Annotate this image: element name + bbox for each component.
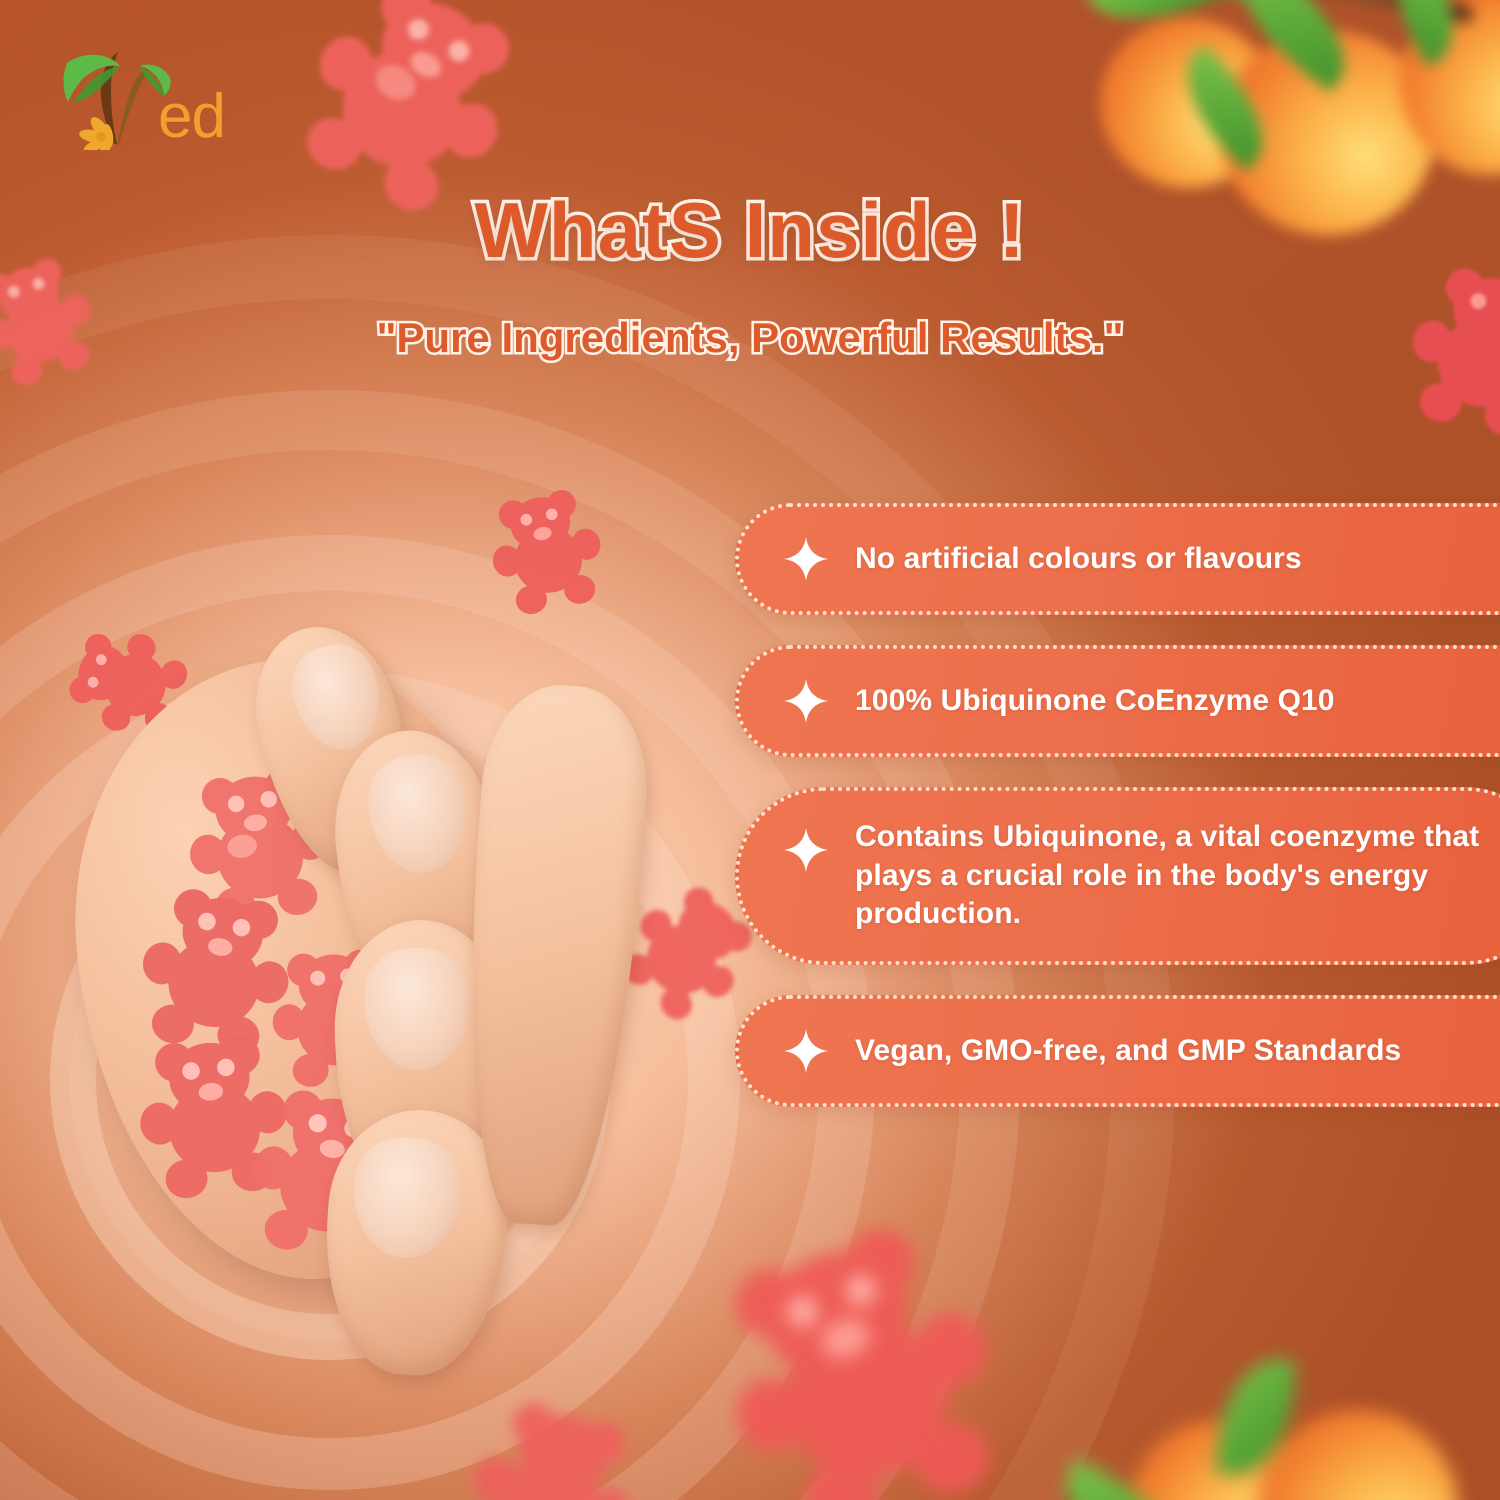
feature-card[interactable]: Vegan, GMO-free, and GMP Standards	[735, 995, 1500, 1107]
sparkle-star-icon	[783, 1028, 829, 1074]
promo-banner: ed WhatS Inside ! "Pure Ingredients, Pow…	[0, 0, 1500, 1500]
feature-card[interactable]: No artificial colours or flavours	[735, 503, 1500, 615]
peach-branch-bottom-right	[1030, 1310, 1460, 1500]
page-title: WhatS Inside !	[0, 190, 1500, 272]
page-subtitle: "Pure Ingredients, Powerful Results."	[0, 314, 1500, 362]
logo-wordmark: ed	[158, 86, 225, 148]
feature-card-label: No artificial colours or flavours	[855, 540, 1302, 578]
feature-card-label: 100% Ubiquinone CoEnzyme Q10	[855, 682, 1335, 720]
sparkle-star-icon	[783, 678, 829, 724]
feature-card-label: Vegan, GMO-free, and GMP Standards	[855, 1032, 1401, 1070]
sparkle-star-icon	[783, 536, 829, 582]
sparkle-star-icon	[783, 827, 829, 873]
heading-block: WhatS Inside ! "Pure Ingredients, Powerf…	[0, 190, 1500, 362]
feature-list: No artificial colours or flavours 100% U…	[735, 503, 1500, 1107]
feature-card[interactable]: Contains Ubiquinone, a vital coenzyme th…	[735, 787, 1500, 965]
brand-logo[interactable]: ed	[58, 40, 268, 160]
feature-card[interactable]: 100% Ubiquinone CoEnzyme Q10	[735, 645, 1500, 757]
hand-holding-gummies-image	[40, 590, 700, 1350]
feature-card-label: Contains Ubiquinone, a vital coenzyme th…	[855, 818, 1495, 933]
